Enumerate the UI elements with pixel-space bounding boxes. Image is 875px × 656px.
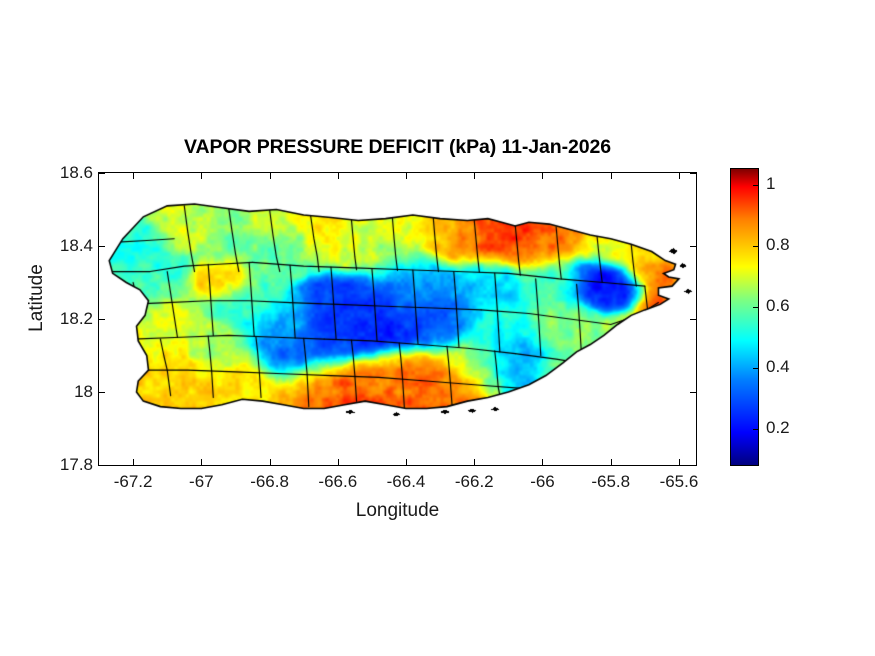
x-axis-tick (270, 459, 271, 465)
y-axis-tick (99, 246, 105, 247)
x-axis-tick (338, 459, 339, 465)
y-axis-tick-label: 18 (74, 382, 93, 402)
x-axis-tick-label: -67 (189, 472, 214, 492)
x-axis-tick (474, 459, 475, 465)
x-axis-label: Longitude (98, 500, 697, 522)
x-axis-tick-label: -66 (530, 472, 555, 492)
colorbar (730, 168, 759, 466)
y-axis-tick-label: 18.2 (60, 309, 93, 329)
x-axis-tick-label: -66.4 (387, 472, 426, 492)
colorbar-tick-label: 0.2 (766, 418, 790, 438)
x-axis-tick-label: -66.6 (318, 472, 357, 492)
y-axis-tick (690, 319, 696, 320)
y-axis-tick (690, 392, 696, 393)
x-axis-tick (679, 459, 680, 465)
colorbar-tick-label: 1 (766, 174, 775, 194)
y-axis-tick-label: 17.8 (60, 455, 93, 475)
x-axis-tick (542, 173, 543, 179)
y-axis-tick-label: 18.6 (60, 163, 93, 183)
colorbar-tick (753, 185, 758, 186)
y-axis-tick (99, 319, 105, 320)
y-axis-tick-label: 18.4 (60, 236, 93, 256)
y-axis-tick (690, 246, 696, 247)
x-axis-tick (474, 173, 475, 179)
x-axis-tick-label: -66.8 (250, 472, 289, 492)
y-axis-tick (690, 465, 696, 466)
x-axis-tick-label: -65.8 (591, 472, 630, 492)
y-axis-label: Latitude (26, 238, 48, 358)
x-axis-tick (406, 459, 407, 465)
x-axis-tick (270, 173, 271, 179)
map-axes (98, 172, 697, 466)
x-axis-tick-label: -65.6 (660, 472, 699, 492)
colorbar-tick-label: 0.6 (766, 296, 790, 316)
colorbar-tick (753, 307, 758, 308)
vapor-pressure-deficit-heatmap (99, 173, 696, 465)
x-axis-tick (679, 173, 680, 179)
y-axis-tick (99, 173, 105, 174)
colorbar-tick (753, 429, 758, 430)
x-axis-tick (611, 173, 612, 179)
x-axis-tick (133, 173, 134, 179)
colorbar-tick-label: 0.8 (766, 235, 790, 255)
colorbar-tick-label: 0.4 (766, 357, 790, 377)
x-axis-tick-label: -67.2 (114, 472, 153, 492)
y-axis-tick (99, 392, 105, 393)
x-axis-tick (133, 459, 134, 465)
colorbar-tick (753, 368, 758, 369)
y-axis-tick (99, 465, 105, 466)
colorbar-tick (753, 246, 758, 247)
x-axis-tick (542, 459, 543, 465)
x-axis-tick (201, 173, 202, 179)
x-axis-tick-label: -66.2 (455, 472, 494, 492)
x-axis-tick (406, 173, 407, 179)
x-axis-tick (611, 459, 612, 465)
figure-canvas: VAPOR PRESSURE DEFICIT (kPa) 11-Jan-2026… (0, 0, 875, 656)
x-axis-tick (338, 173, 339, 179)
x-axis-tick (201, 459, 202, 465)
y-axis-tick (690, 173, 696, 174)
page-title: VAPOR PRESSURE DEFICIT (kPa) 11-Jan-2026 (98, 136, 697, 159)
